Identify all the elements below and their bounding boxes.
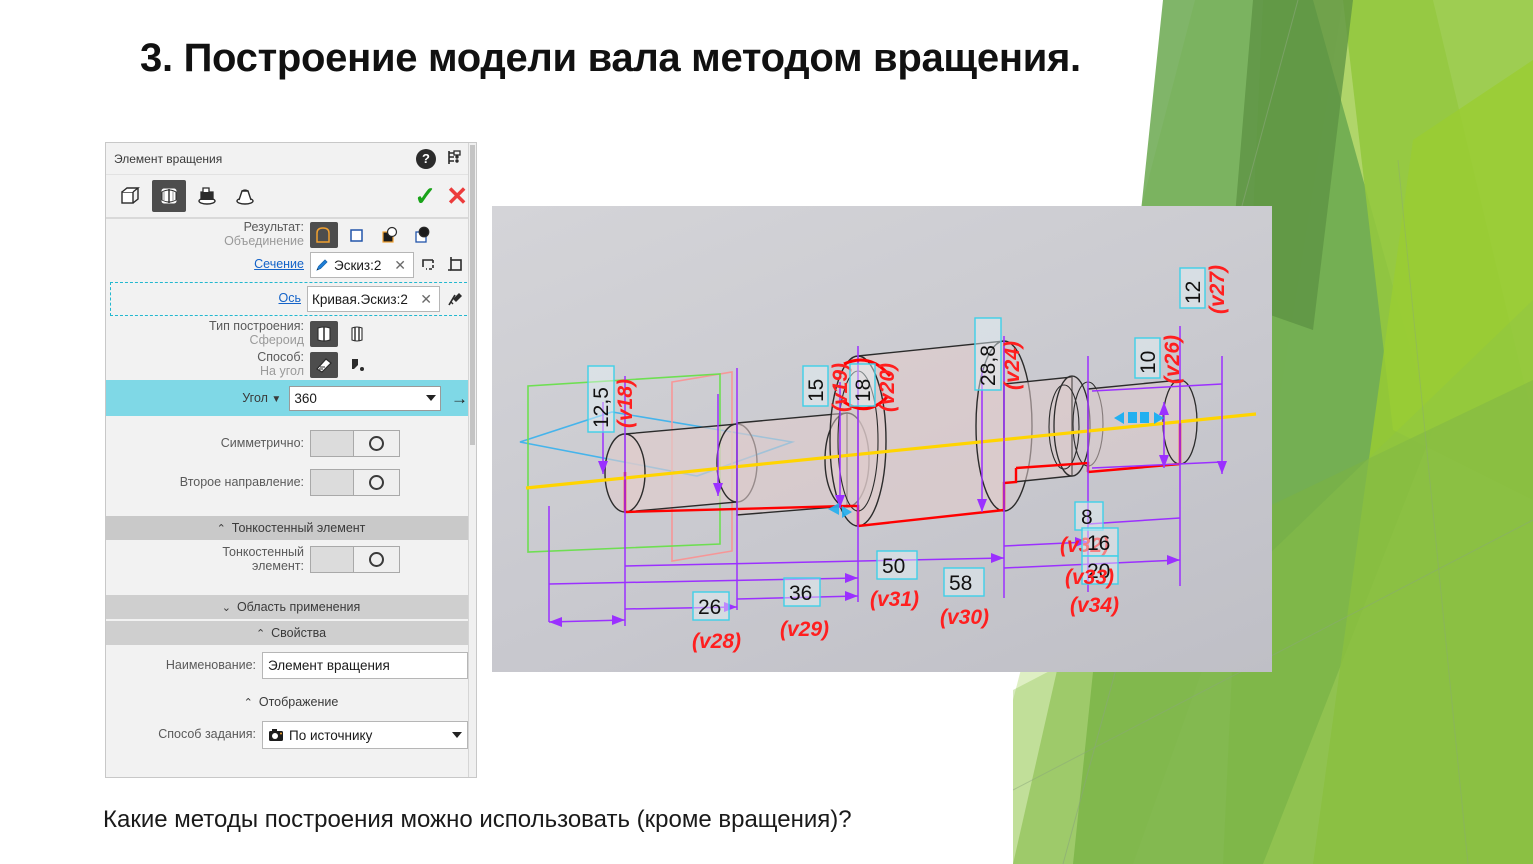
- 3d-model-viewport[interactable]: 12,5 (v18) 15 (v19) 18 (v20) 28,8 (v24) …: [492, 206, 1272, 672]
- symmetric-toggle[interactable]: [310, 430, 400, 457]
- svg-text:(v29): (v29): [780, 618, 829, 641]
- display-mode-value: По источнику: [289, 728, 447, 743]
- section-value: Эскиз:2: [334, 258, 391, 273]
- help-icon[interactable]: ?: [416, 149, 436, 169]
- build-type-row: Тип построения: Сфероид: [106, 318, 476, 349]
- properties-section-header[interactable]: ⌃ Свойства: [106, 621, 476, 645]
- axis-clear-icon[interactable]: ✕: [417, 291, 435, 308]
- second-direction-row: Второе направление:: [106, 463, 476, 502]
- svg-text:15: 15: [805, 379, 828, 402]
- section-clear-icon[interactable]: ✕: [391, 257, 409, 274]
- svg-text:(v18): (v18): [614, 379, 637, 428]
- chevron-up-icon: ⌃: [256, 627, 265, 640]
- method-row: Способ: На угол: [106, 349, 476, 380]
- thin-wall-toggle[interactable]: [310, 546, 400, 573]
- svg-text:(v34): (v34): [1070, 594, 1119, 617]
- angle-value: 360: [294, 391, 426, 406]
- section-label: Сечение: [106, 258, 310, 272]
- angle-row: Угол ▼ 360 →: [106, 380, 476, 416]
- slide-root: 3. Построение модели вала методом вращен…: [0, 0, 1533, 864]
- svg-text:50: 50: [882, 555, 905, 578]
- svg-text:(v33): (v33): [1065, 566, 1114, 589]
- thin-wall-label: Тонкостенный элемент:: [106, 546, 310, 573]
- spheroid-icon[interactable]: [310, 321, 338, 347]
- svg-text:12,5: 12,5: [590, 387, 613, 428]
- empty-icon[interactable]: [343, 222, 371, 248]
- chevron-down-icon: ⌄: [222, 601, 231, 614]
- subtract-icon[interactable]: [409, 222, 437, 248]
- union-icon[interactable]: [310, 222, 338, 248]
- panel-scrollbar[interactable]: [468, 143, 476, 777]
- display-section-header[interactable]: ⌃ Отображение: [106, 690, 476, 714]
- angle-input[interactable]: 360: [289, 386, 441, 411]
- svg-text:16: 16: [1087, 532, 1110, 555]
- properties-section-title: Свойства: [271, 626, 326, 640]
- second-direction-label: Второе направление:: [106, 476, 310, 490]
- chevron-up-icon: ⌃: [217, 522, 226, 535]
- name-value: Элемент вращения: [268, 658, 390, 673]
- second-direction-toggle[interactable]: [310, 469, 400, 496]
- svg-text:(v27): (v27): [1206, 265, 1229, 314]
- result-row: Результат: Объединение: [106, 219, 476, 250]
- symmetric-row: Симметрично:: [106, 424, 476, 463]
- svg-text:10: 10: [1137, 351, 1160, 374]
- symmetric-label: Симметрично:: [106, 437, 310, 451]
- axis-label: Ось: [111, 292, 307, 306]
- pick-axis-icon[interactable]: [443, 287, 467, 311]
- display-mode-label: Способ задания:: [106, 728, 262, 742]
- svg-text:28,8: 28,8: [977, 345, 1000, 386]
- by-angle-icon[interactable]: [310, 352, 338, 378]
- svg-text:(v28): (v28): [692, 630, 741, 653]
- angle-label[interactable]: Угол ▼: [106, 391, 289, 405]
- display-mode-row: Способ задания: По источнику: [106, 714, 476, 756]
- result-label: Результат: Объединение: [106, 221, 310, 248]
- svg-text:(v30): (v30): [940, 606, 989, 629]
- svg-text:26: 26: [698, 596, 721, 619]
- svg-text:36: 36: [789, 582, 812, 605]
- display-mode-select[interactable]: По источнику: [262, 721, 468, 749]
- sweep-icon[interactable]: [190, 180, 224, 212]
- toroid-icon[interactable]: [343, 321, 371, 347]
- name-input[interactable]: Элемент вращения: [262, 652, 468, 679]
- revolve-property-panel: Элемент вращения ?: [105, 142, 477, 778]
- confirm-button[interactable]: ✓: [414, 183, 436, 209]
- axis-row: Ось Кривая.Эскиз:2 ✕: [110, 282, 472, 316]
- chevron-down-icon[interactable]: [452, 732, 462, 738]
- pencil-icon: [315, 258, 329, 272]
- extrude-icon[interactable]: [114, 180, 148, 212]
- axis-value: Кривая.Эскиз:2: [312, 292, 417, 307]
- svg-text:(v31): (v31): [870, 588, 919, 611]
- to-object-icon[interactable]: [343, 352, 371, 378]
- revolve-icon[interactable]: [152, 180, 186, 212]
- direction-arrow-icon[interactable]: →: [451, 390, 468, 407]
- intersect-icon[interactable]: [376, 222, 404, 248]
- polyline-icon[interactable]: [417, 253, 441, 277]
- question-caption: Какие методы построения можно использова…: [103, 806, 852, 834]
- section-input[interactable]: Эскиз:2 ✕: [310, 252, 414, 278]
- panel-title-bar: Элемент вращения ?: [106, 143, 476, 175]
- svg-text:12: 12: [1182, 281, 1205, 304]
- name-label: Наименование:: [106, 659, 262, 673]
- panel-toolbar: ✓ ✕: [106, 175, 476, 219]
- chevron-up-icon: ⌃: [244, 696, 253, 709]
- thin-wall-row: Тонкостенный элемент:: [106, 540, 476, 579]
- loft-icon[interactable]: [228, 180, 262, 212]
- chevron-down-icon[interactable]: [426, 395, 436, 401]
- section-row: Сечение Эскиз:2 ✕: [106, 250, 476, 280]
- svg-text:18: 18: [852, 379, 875, 402]
- build-type-label: Тип построения: Сфероид: [106, 320, 310, 347]
- svg-text:8: 8: [1081, 506, 1093, 529]
- axis-input[interactable]: Кривая.Эскиз:2 ✕: [307, 286, 440, 312]
- page-title: 3. Построение модели вала методом вращен…: [140, 36, 1081, 81]
- svg-text:58: 58: [949, 572, 972, 595]
- svg-text:(v26): (v26): [1161, 335, 1184, 384]
- scope-section-title: Область применения: [237, 600, 360, 614]
- thin-wall-section-header[interactable]: ⌃ Тонкостенный элемент: [106, 516, 476, 540]
- svg-text:(v20): (v20): [876, 363, 899, 412]
- name-row: Наименование: Элемент вращения: [106, 645, 476, 686]
- cancel-button[interactable]: ✕: [446, 183, 468, 209]
- panel-title-label: Элемент вращения: [114, 152, 416, 166]
- display-section-title: Отображение: [259, 695, 338, 709]
- sketch-icon[interactable]: [444, 253, 468, 277]
- method-label: Способ: На угол: [106, 351, 310, 378]
- svg-text:(v24): (v24): [1001, 341, 1024, 390]
- thin-wall-section-title: Тонкостенный элемент: [232, 521, 366, 535]
- camera-icon: [268, 728, 284, 742]
- tree-icon[interactable]: [446, 149, 464, 169]
- svg-text:(v19): (v19): [829, 363, 852, 412]
- scope-section-header[interactable]: ⌄ Область применения: [106, 595, 476, 619]
